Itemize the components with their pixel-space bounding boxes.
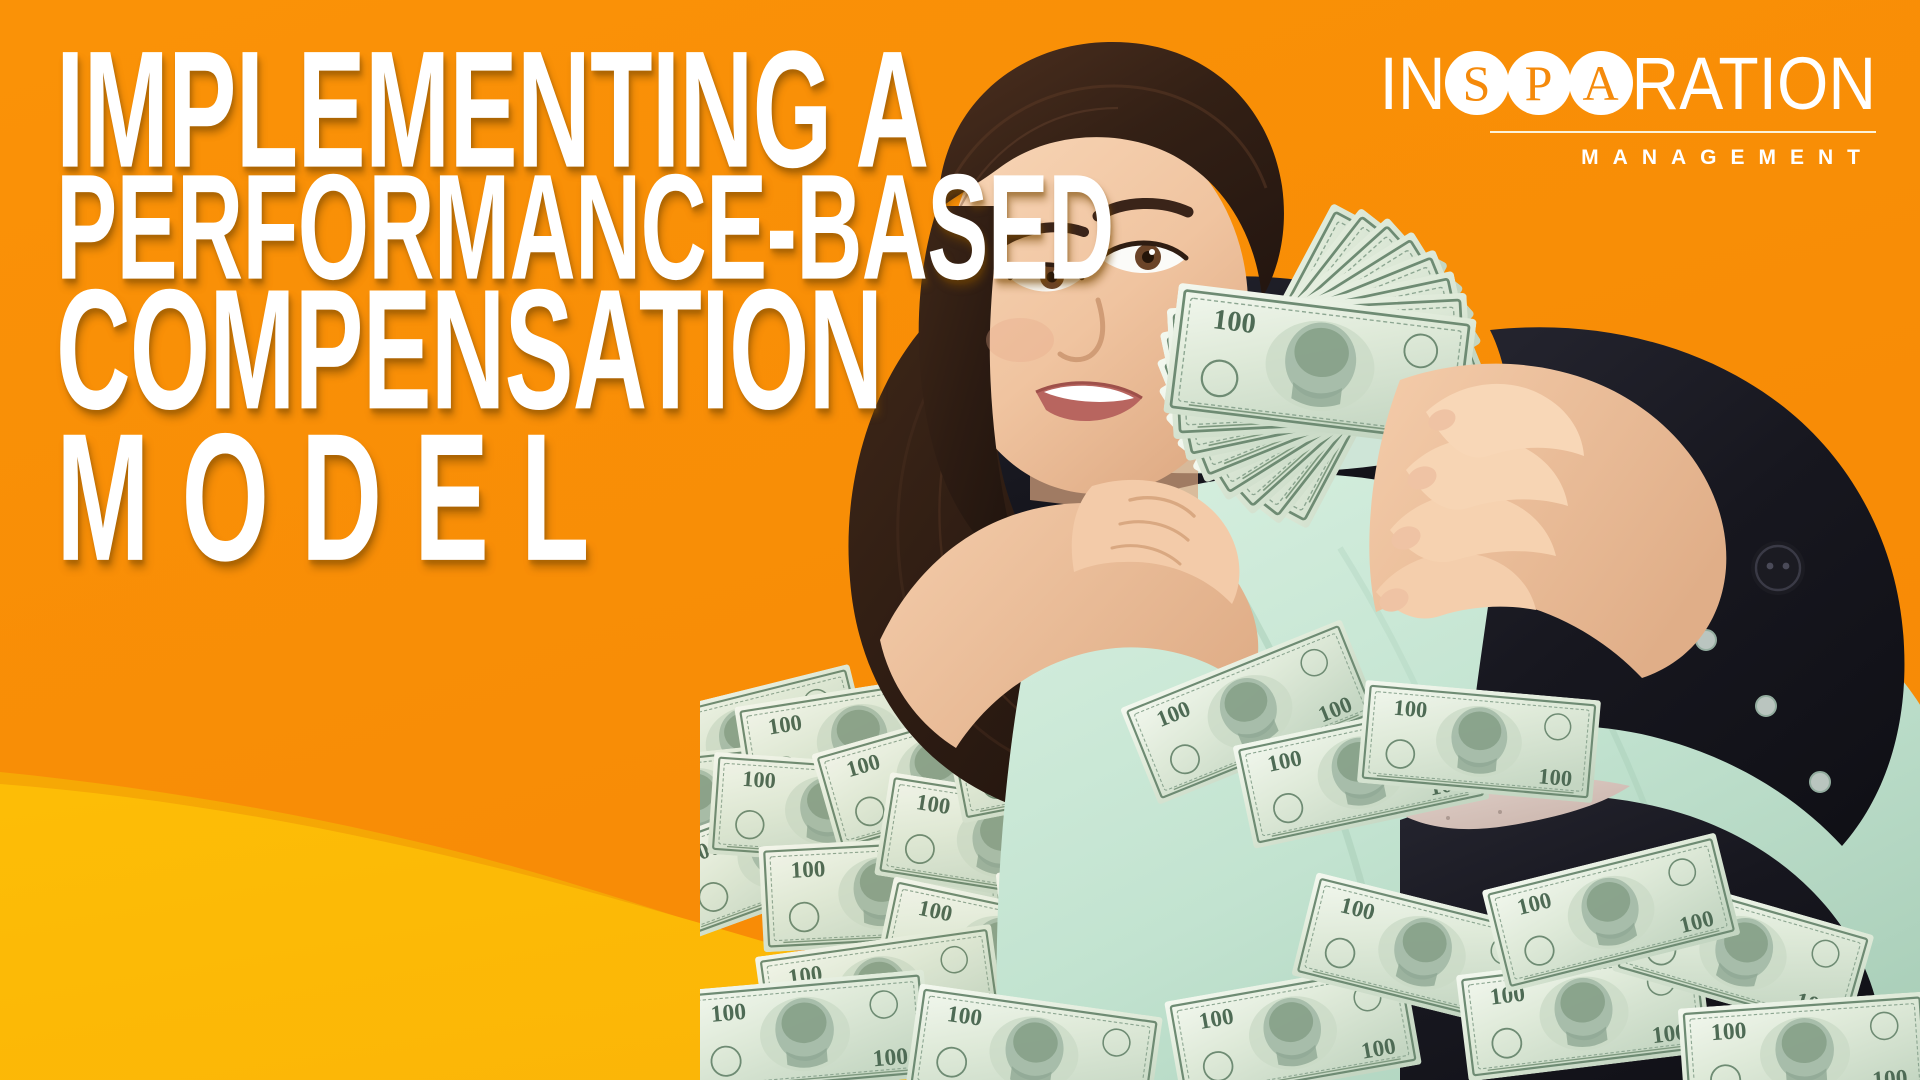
logo-divider-rule: [1490, 131, 1876, 133]
logo-circle-s: S: [1445, 51, 1509, 115]
logo-circle-a: A: [1569, 51, 1633, 115]
headline-block: IMPLEMENTING A PERFORMANCE-BASED COMPENS…: [56, 34, 936, 532]
logo-circle-p: P: [1507, 51, 1571, 115]
blazer-button: [1751, 541, 1805, 595]
logo-wordmark: IN S P A RATION: [1446, 44, 1876, 122]
logo-part-ration: RATION: [1632, 46, 1876, 120]
brand-logo[interactable]: IN S P A RATION MANAGEMENT: [1446, 44, 1876, 170]
logo-subtitle: MANAGEMENT: [1446, 146, 1876, 170]
headline-line-4: MODEL: [56, 415, 830, 582]
promo-banner: 100 100: [0, 0, 1920, 1080]
logo-part-in: IN: [1380, 46, 1446, 120]
